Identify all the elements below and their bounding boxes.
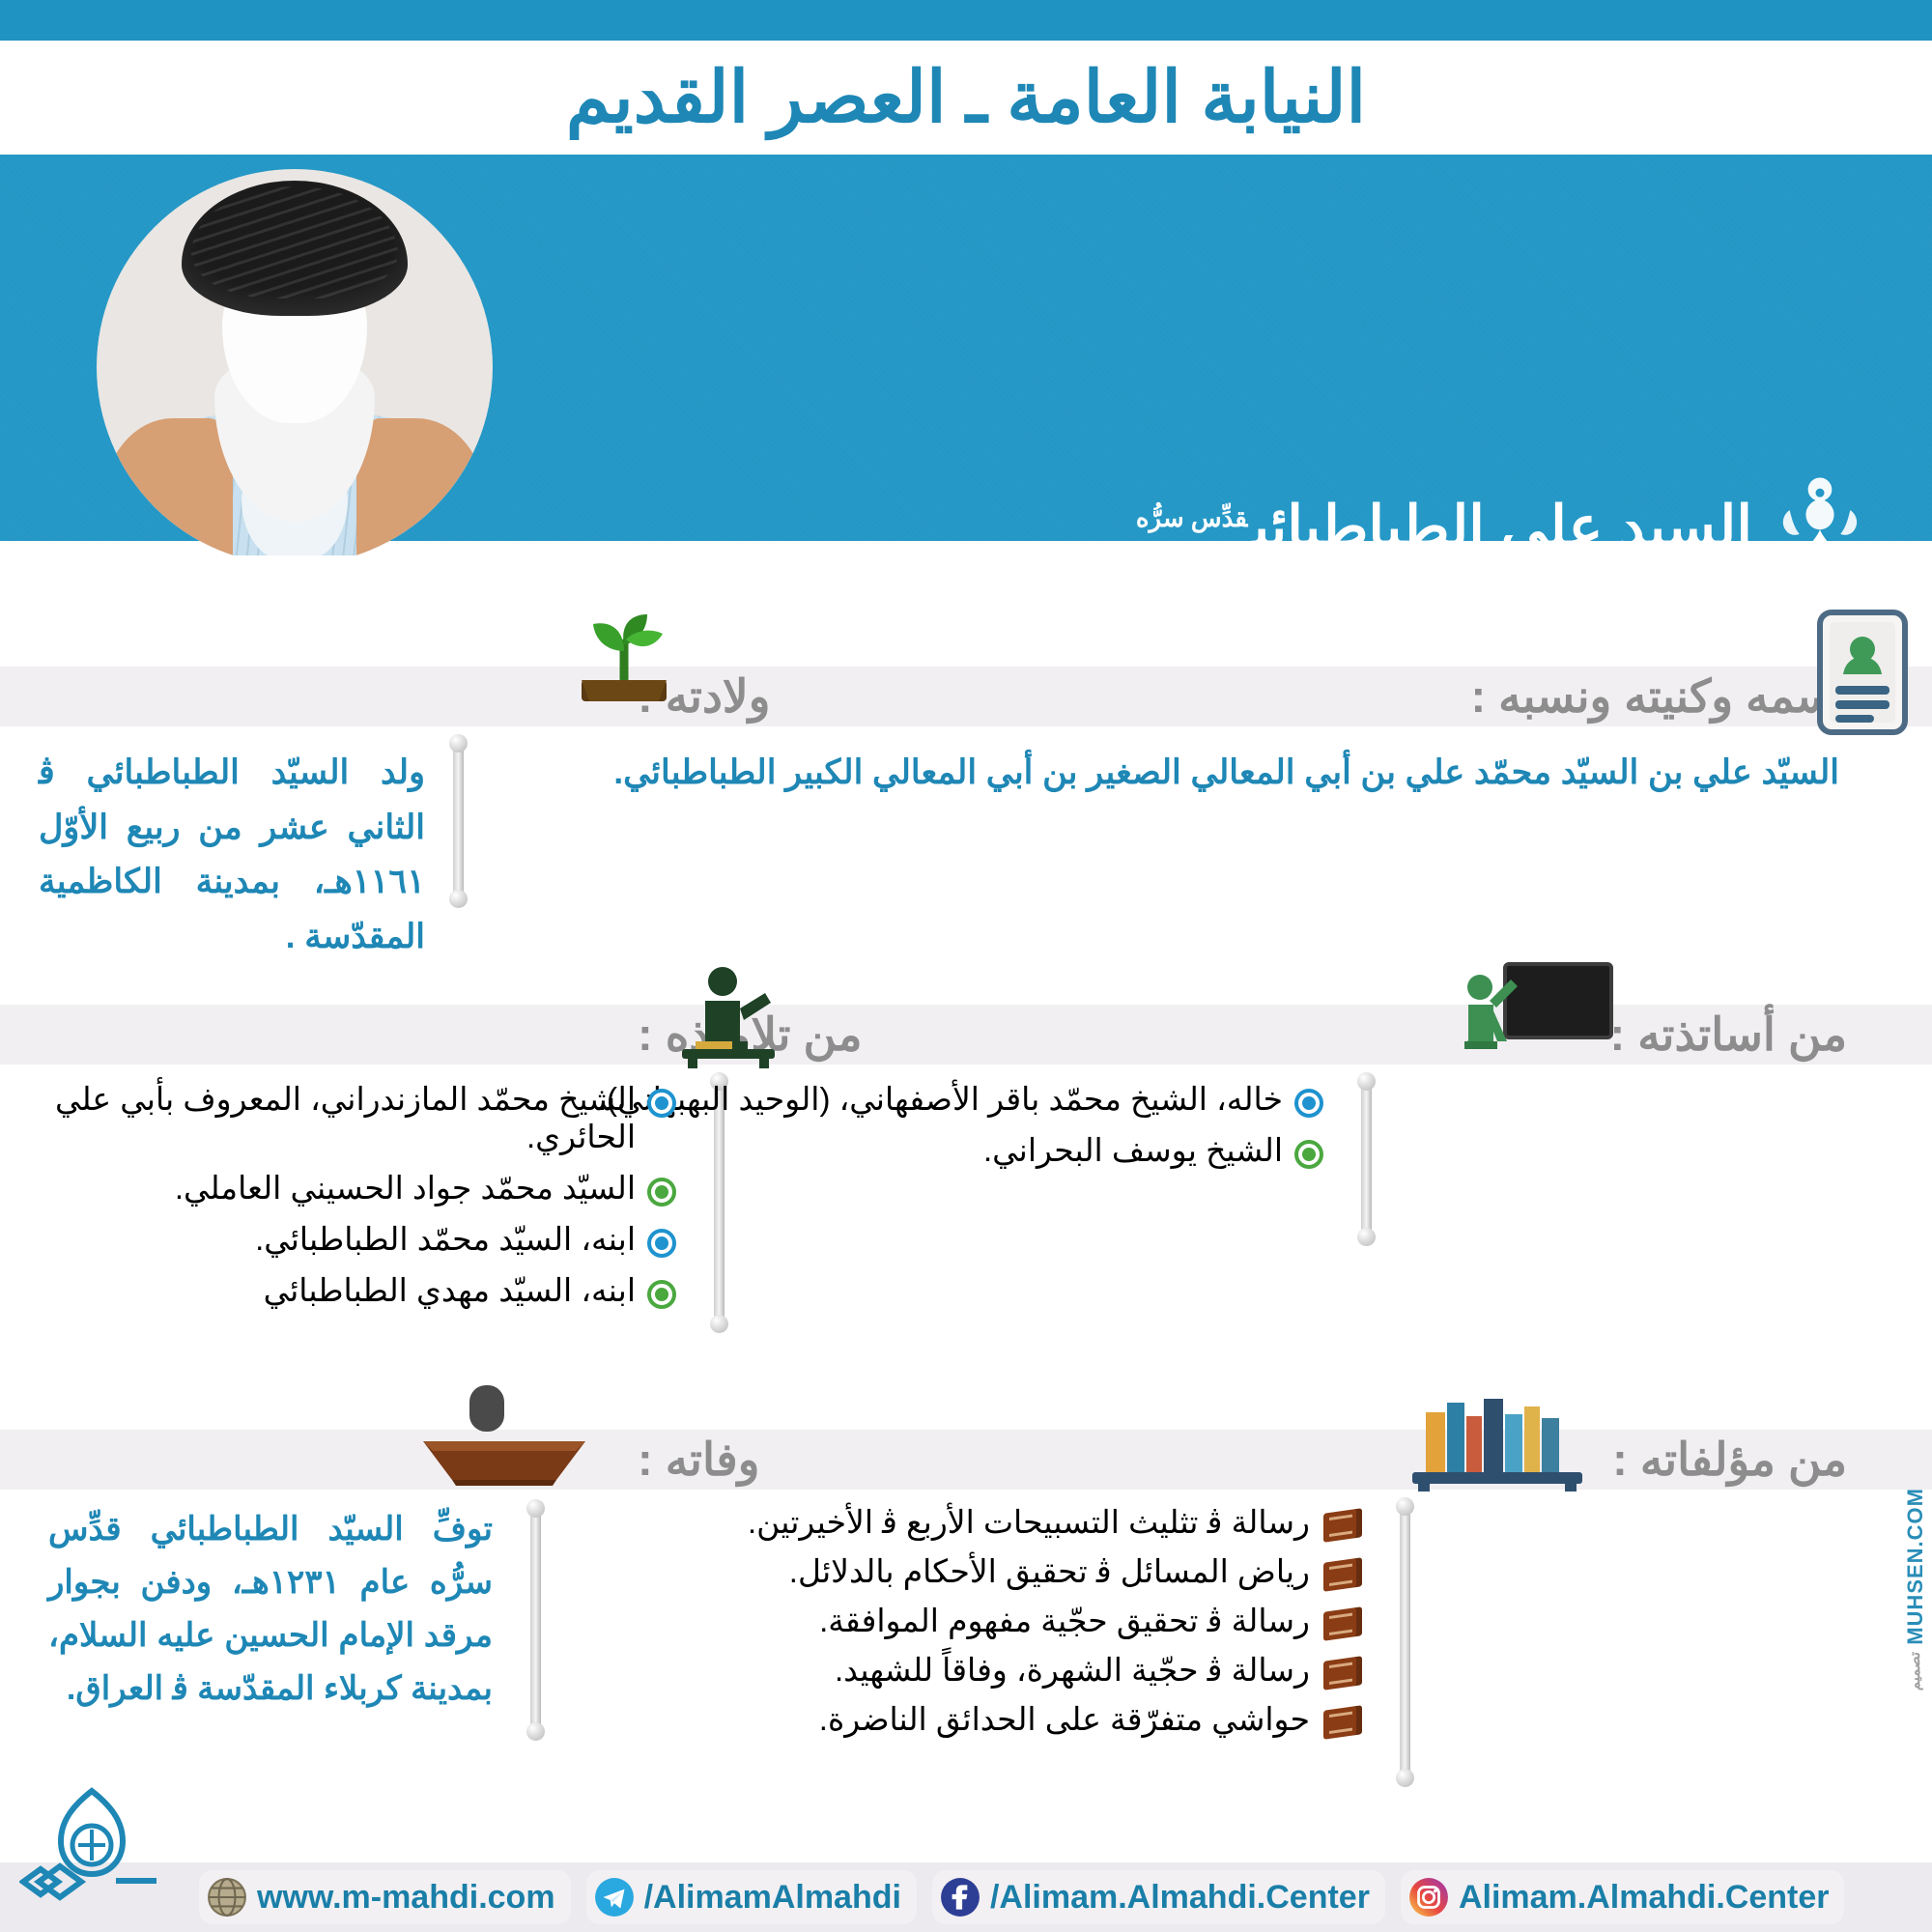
book-icon (1323, 1705, 1362, 1740)
heading-death: وفاته : (638, 1433, 759, 1487)
person-name-text: السيد علي الطباطبائي (1253, 495, 1752, 559)
footer-link-label: /Alimam.Almahdi.Center (990, 1879, 1370, 1917)
title-band: النيابة العامة ـ العصر القديم (0, 41, 1932, 155)
work-title: رياض المسائل ﭬ تحقيق الأحكام بالدلائل. (789, 1552, 1310, 1590)
list-item: رسالة ﭬ تحقيق حجّية مفهوم الموافقة. (512, 1602, 1362, 1639)
portrait-cloak-right (102, 418, 233, 555)
watermark: MUHSEN.COM تصميم (1903, 1488, 1928, 1690)
book-icon (1323, 1656, 1362, 1690)
mosque-logo (19, 1781, 164, 1926)
person-name-block: السيد علي الطباطبائيقدِّس سرُّه (1136, 473, 1874, 582)
text-birth: ولد السيّد الطباطبائي ﭬ الثاني عشر من رب… (39, 746, 425, 965)
footer-link-instagram[interactable]: Alimam.Almahdi.Center (1401, 1870, 1845, 1924)
portrait-circle (97, 169, 493, 555)
book-icon (1323, 1508, 1362, 1543)
teacher-name: خاله، الشيخ محمّد باقر الأصفهاني، (الوحي… (598, 1080, 1283, 1118)
watermark-sub: تصميم (1907, 1652, 1923, 1690)
text-name-lineage: السيّد علي بن السيّد محمّد علي بن أبي ال… (506, 746, 1839, 801)
footer-link-label: www.m-mahdi.com (257, 1879, 555, 1917)
student-desk-icon (667, 962, 802, 1068)
footer-link-website[interactable]: www.m-mahdi.com (199, 1870, 571, 1924)
bullet-icon (1294, 1140, 1323, 1169)
page-title: النيابة العامة ـ العصر القديم (566, 62, 1366, 133)
person-honorific: قدِّس سرُّه (1136, 503, 1248, 532)
heading-name-lineage: اسمه وكنيته ونسبه : (1470, 669, 1847, 724)
ornament-icon (1766, 473, 1874, 582)
works-list: رسالة ﭬ تثليث التسبيحات الأربع ﭬ الأخيرت… (512, 1503, 1362, 1749)
work-title: رسالة ﭬ تثليث التسبيحات الأربع ﭬ الأخيرت… (748, 1503, 1310, 1541)
book-icon (1323, 1606, 1362, 1641)
list-item: حواشي متفرّقة على الحدائق الناضرة. (512, 1700, 1362, 1738)
divider-rail-teachers (1361, 1082, 1372, 1236)
list-item: الشيخ محمّد المازندراني، المعروف بأبي عل… (39, 1080, 676, 1155)
watermark-text: MUHSEN.COM (1903, 1488, 1927, 1645)
portrait-turban (182, 181, 408, 316)
bullet-icon (647, 1089, 676, 1118)
student-name: ابنه، السيّد مهدي الطباطبائي (264, 1271, 636, 1309)
section-header-works-death: من مؤلفاته : وفاته : (0, 1430, 1932, 1490)
list-item: رسالة ﭬ تثليث التسبيحات الأربع ﭬ الأخيرت… (512, 1503, 1362, 1541)
divider-rail-1 (453, 744, 464, 898)
facebook-icon (940, 1877, 980, 1918)
student-name: السيّد محمّد جواد الحسيني العاملي. (175, 1169, 636, 1207)
telegram-icon (594, 1877, 635, 1918)
list-item: رسالة ﭬ حجّية الشهرة، وفاقاً للشهيد. (512, 1651, 1362, 1689)
bullet-icon (647, 1229, 676, 1258)
grave-icon (415, 1381, 599, 1490)
id-card-icon (1816, 609, 1909, 736)
footer-link-label: Alimam.Almahdi.Center (1459, 1879, 1830, 1917)
person-name: السيد علي الطباطبائيقدِّس سرُّه (1136, 496, 1752, 559)
footer-link-telegram[interactable]: /AlimamAlmahdi (586, 1870, 917, 1924)
footer-link-label: /AlimamAlmahdi (644, 1879, 901, 1917)
work-title: رسالة ﭬ حجّية الشهرة، وفاقاً للشهيد. (835, 1651, 1310, 1689)
bullet-icon (647, 1178, 676, 1207)
top-accent-strip (0, 0, 1932, 41)
student-name: الشيخ محمّد المازندراني، المعروف بأبي عل… (39, 1080, 636, 1155)
section-header-teachers-students: من أساتذته : من تلاميذه : (0, 1005, 1932, 1065)
globe-icon (207, 1877, 247, 1918)
sprout-icon (562, 591, 686, 709)
teacher-blackboard-icon (1420, 962, 1613, 1068)
bookshelf-icon (1401, 1389, 1594, 1492)
list-item: ابنه، السيّد مهدي الطباطبائي (39, 1271, 676, 1309)
list-item: رياض المسائل ﭬ تحقيق الأحكام بالدلائل. (512, 1552, 1362, 1590)
list-item: ابنه، السيّد محمّد الطباطبائي. (39, 1220, 676, 1258)
heading-teachers: من أساتذته : (1609, 1008, 1847, 1062)
heading-works: من مؤلفاته : (1612, 1433, 1847, 1487)
footer-bar: www.m-mahdi.com /AlimamAlmahdi /Alimam.A… (0, 1862, 1932, 1932)
work-title: رسالة ﭬ تحقيق حجّية مفهوم الموافقة. (819, 1602, 1310, 1639)
student-name: ابنه، السيّد محمّد الطباطبائي. (255, 1220, 636, 1258)
list-item: السيّد محمّد جواد الحسيني العاملي. (39, 1169, 676, 1207)
footer-link-facebook[interactable]: /Alimam.Almahdi.Center (932, 1870, 1385, 1924)
bullet-icon (647, 1280, 676, 1309)
portrait (97, 169, 493, 555)
instagram-icon (1408, 1877, 1449, 1918)
portrait-cloak-left (356, 418, 487, 555)
section-header-name-birth: اسمه وكنيته ونسبه : ولادته : (0, 667, 1932, 726)
bullet-icon (1294, 1089, 1323, 1118)
work-title: حواشي متفرّقة على الحدائق الناضرة. (819, 1700, 1310, 1738)
teacher-name: الشيخ يوسف البحراني. (983, 1131, 1283, 1169)
students-list: الشيخ محمّد المازندراني، المعروف بأبي عل… (39, 1080, 676, 1322)
divider-rail-works (1400, 1507, 1410, 1777)
text-death: توفِّ السيّد الطباطبائي قدِّس سرُّه عام … (48, 1503, 493, 1716)
book-icon (1323, 1557, 1362, 1592)
